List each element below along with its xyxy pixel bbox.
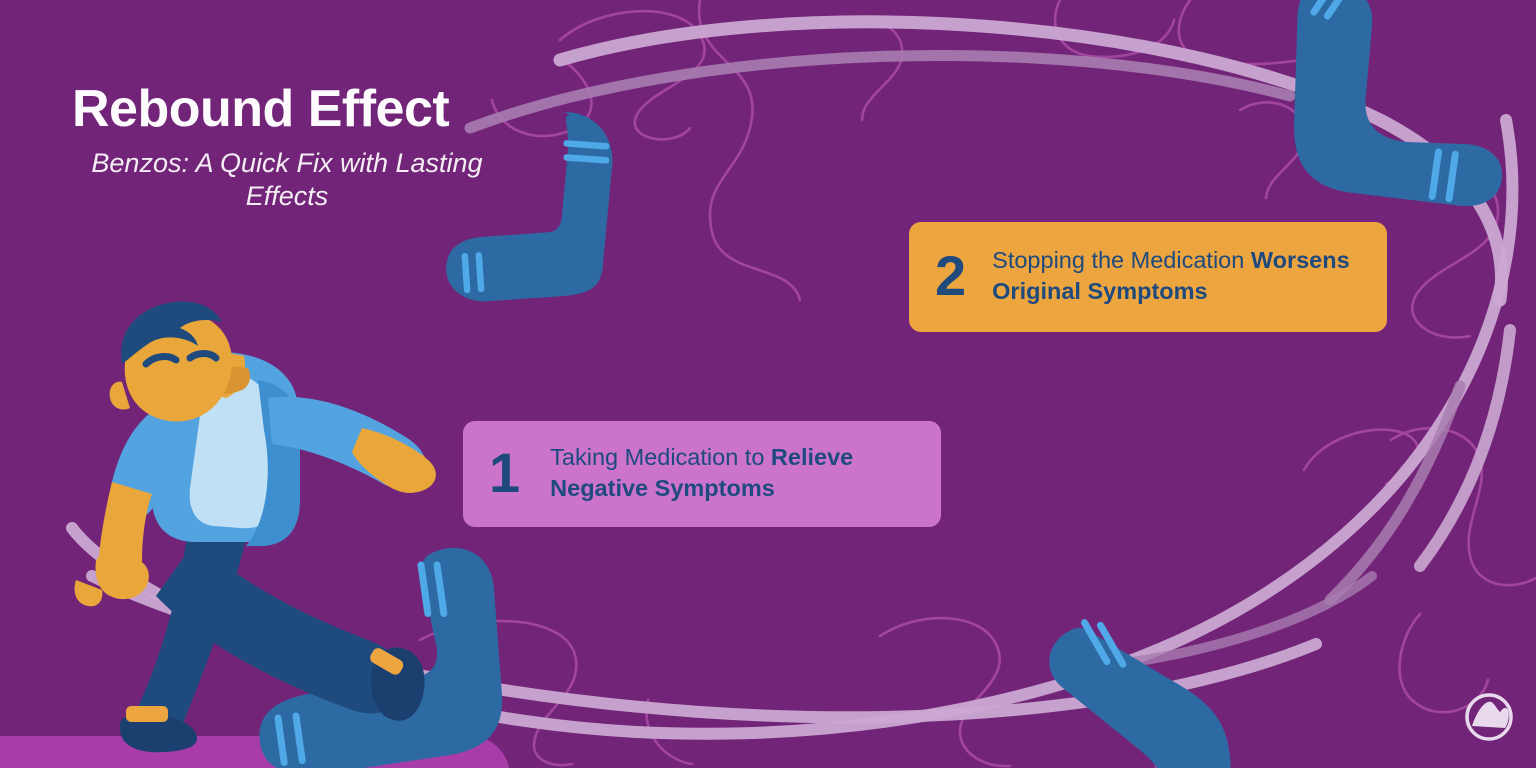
step-callout-2[interactable]: 2 Stopping the Medication Worsens Origin… xyxy=(909,222,1387,332)
page-title: Rebound Effect xyxy=(72,82,592,137)
step-1-text-regular: Taking Medication to xyxy=(550,444,771,470)
step-1-number: 1 xyxy=(489,445,520,501)
step-callout-1[interactable]: 1 Taking Medication to Relieve Negative … xyxy=(463,421,941,527)
step-2-number: 2 xyxy=(935,248,966,304)
logo-mountain-icon xyxy=(1472,702,1509,728)
step-1-text: Taking Medication to Relieve Negative Sy… xyxy=(550,442,915,503)
step-2-text-regular: Stopping the Medication xyxy=(992,247,1251,273)
title-block: Rebound Effect Benzos: A Quick Fix with … xyxy=(72,82,592,212)
step-2-text: Stopping the Medication Worsens Original… xyxy=(992,245,1361,306)
mountain-circle-logo[interactable] xyxy=(1467,695,1511,739)
page-subtitle: Benzos: A Quick Fix with Lasting Effects xyxy=(72,147,502,213)
infographic-canvas: Rebound Effect Benzos: A Quick Fix with … xyxy=(0,0,1536,768)
